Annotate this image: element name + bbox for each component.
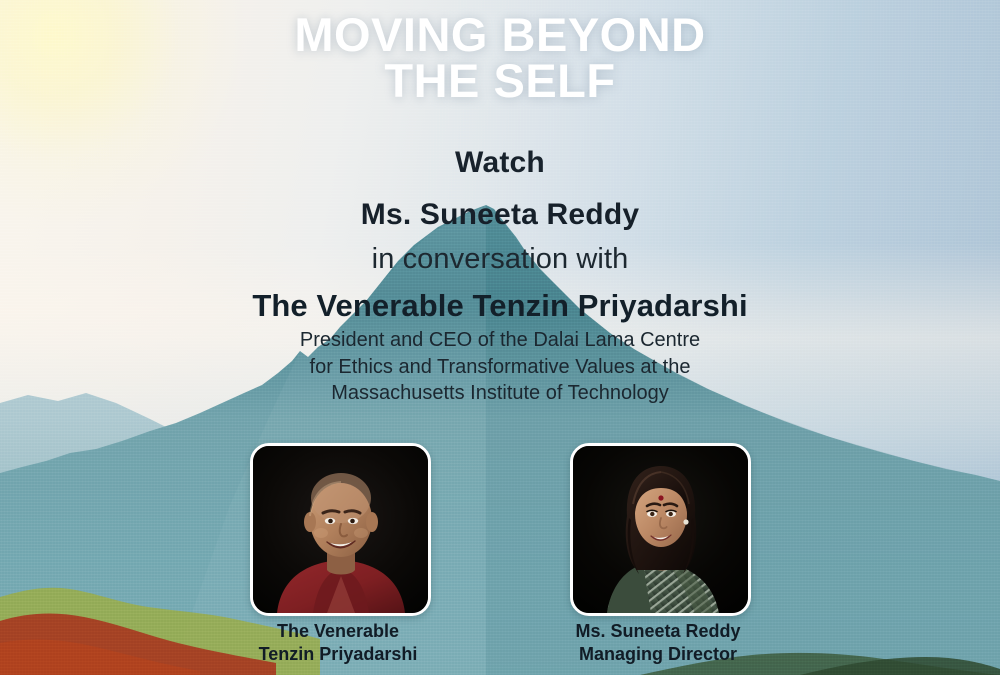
guest-title-line-1: President and CEO of the Dalai Lama Cent… xyxy=(0,327,1000,354)
guest-title: President and CEO of the Dalai Lama Cent… xyxy=(0,327,1000,407)
caption-right-line-1: Ms. Suneeta Reddy xyxy=(558,620,758,643)
caption-tenzin-priyadarshi: The Venerable Tenzin Priyadarshi xyxy=(238,620,438,666)
connector-text: in conversation with xyxy=(0,243,1000,276)
portrait-tenzin-priyadarshi xyxy=(250,443,431,616)
guest-name: The Venerable Tenzin Priyadarshi xyxy=(0,288,1000,324)
host-name: Ms. Suneeta Reddy xyxy=(0,198,1000,232)
poster: MOVING BEYOND THE SELF Watch Ms. Suneeta… xyxy=(0,0,1000,675)
caption-left-line-2: Tenzin Priyadarshi xyxy=(238,643,438,666)
guest-title-line-3: Massachusetts Institute of Technology xyxy=(0,380,1000,407)
caption-right-line-2: Managing Director xyxy=(558,643,758,666)
caption-left-line-1: The Venerable xyxy=(238,620,438,643)
caption-suneeta-reddy: Ms. Suneeta Reddy Managing Director xyxy=(558,620,758,666)
portrait-suneeta-reddy xyxy=(570,443,751,616)
headline-line-2: THE SELF xyxy=(0,58,1000,104)
guest-title-line-2: for Ethics and Transformative Values at … xyxy=(0,354,1000,381)
page-title: MOVING BEYOND THE SELF xyxy=(0,12,1000,104)
watch-label: Watch xyxy=(0,146,1000,180)
